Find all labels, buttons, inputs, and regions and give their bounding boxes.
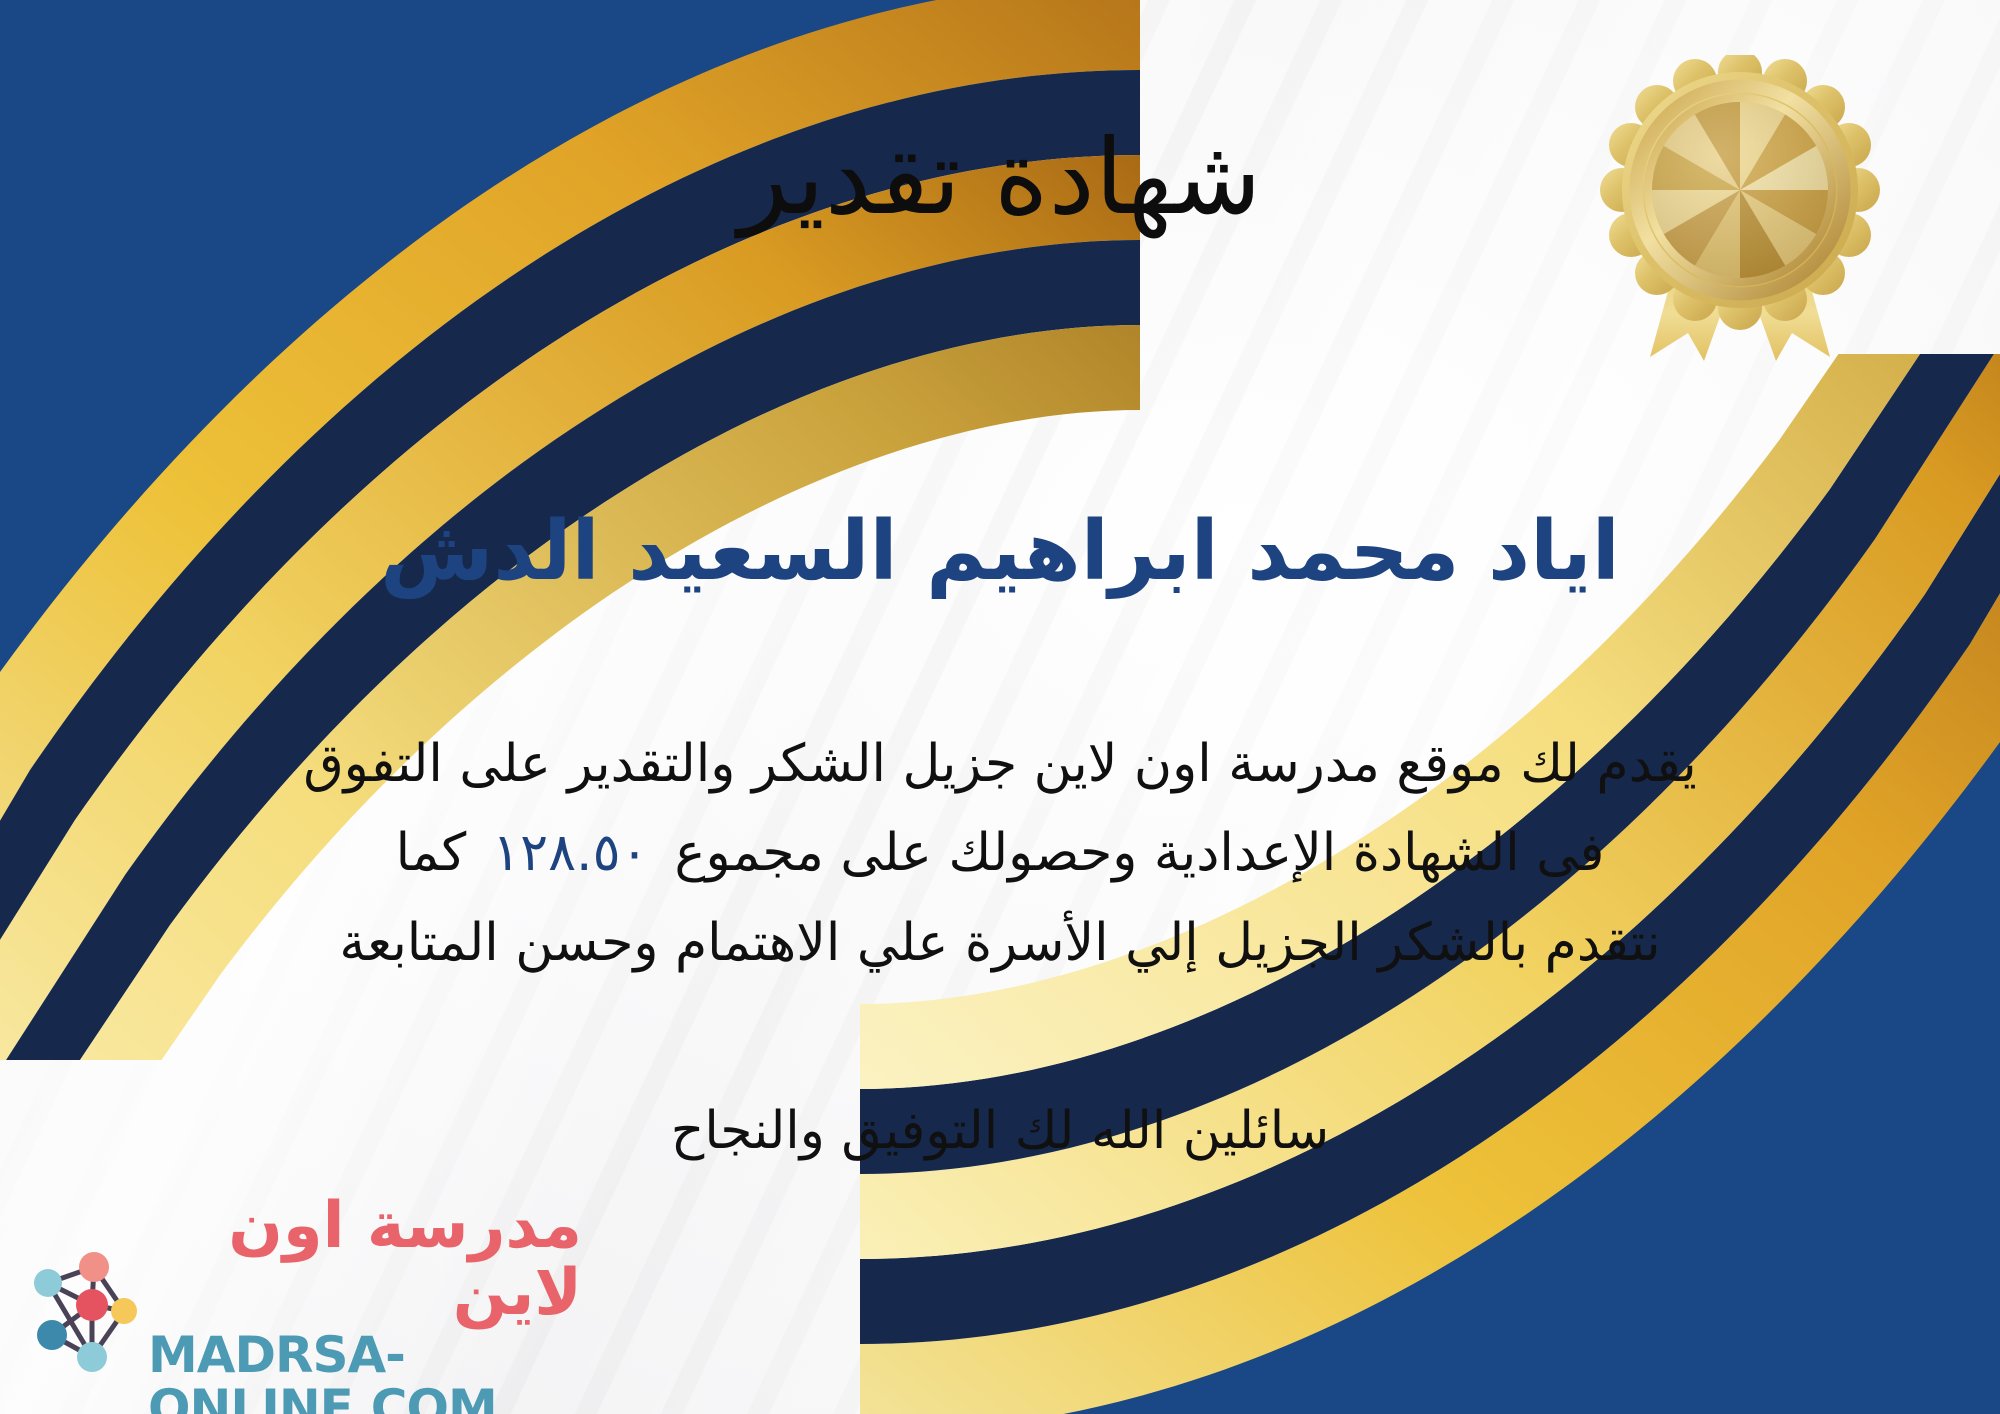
body-line-3: نتقدم بالشكر الجزيل إلي الأسرة علي الاهت… <box>70 899 1930 988</box>
logo-site-url: MADRSA-ONLINE.COM <box>148 1329 582 1414</box>
certificate-body: يقدم لك موقع مدرسة اون لاين جزيل الشكر و… <box>70 720 1930 988</box>
body-line-2-prefix: فى الشهادة الإعدادية وحصولك على مجموع <box>674 823 1604 883</box>
logo-wordmark: مدرسة اون لاين MADRSA-ONLINE.COM <box>148 1193 582 1414</box>
certificate-canvas: شهادة تقدير اياد محمد ابراهيم السعيد الد… <box>0 0 2000 1414</box>
body-line-1: يقدم لك موقع مدرسة اون لاين جزيل الشكر و… <box>70 720 1930 809</box>
certificate-title: شهادة تقدير <box>0 120 2000 234</box>
body-line-2: فى الشهادة الإعدادية وحصولك على مجموع١٢٨… <box>70 809 1930 898</box>
logo-arabic-text: مدرسة اون لاين <box>148 1193 582 1327</box>
body-line-2-suffix: كما <box>396 823 467 883</box>
recipient-name: اياد محمد ابراهيم السعيد الدش <box>0 505 2000 599</box>
site-logo[interactable]: مدرسة اون لاين MADRSA-ONLINE.COM <box>22 1231 582 1396</box>
closing-line: سائلين الله لك التوفيق والنجاح <box>0 1090 2000 1173</box>
network-nodes-icon <box>22 1249 142 1379</box>
total-score: ١٢٨.٥٠ <box>466 823 674 883</box>
